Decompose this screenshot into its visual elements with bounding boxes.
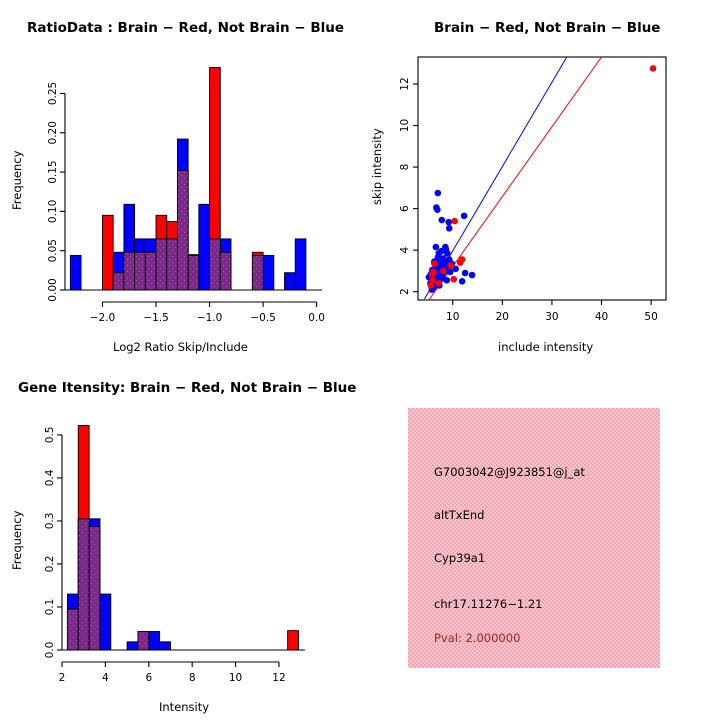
locus-text: chr17.11276−1.21 <box>434 597 542 611</box>
ratio-histogram-ylabel: Frequency <box>10 151 24 210</box>
y-tick-label: 0.10 <box>47 200 59 223</box>
histogram-bar-not-brain <box>149 632 160 651</box>
histogram-bar-overlap-texture <box>177 171 188 291</box>
point-not-brain <box>459 278 466 285</box>
point-not-brain <box>469 272 476 279</box>
x-tick-label: −1.0 <box>197 312 223 324</box>
histogram-bar-overlap-texture <box>252 255 263 290</box>
y-tick-label: 0.15 <box>47 160 59 183</box>
y-tick-label: 0.4 <box>44 469 56 486</box>
y-tick-label: 0.2 <box>44 556 56 573</box>
x-tick-label: −1.5 <box>143 312 169 324</box>
point-brain <box>436 280 443 287</box>
ratio_hist-group: 0.000.050.100.150.200.25−2.0−1.5−1.0−0.5… <box>47 68 325 325</box>
histogram-bar-overlap-texture <box>67 609 78 650</box>
histogram-bar-overlap-texture <box>89 527 100 650</box>
point-not-brain <box>435 190 442 197</box>
figure-canvas: RatioData : Brain − Red, Not Brain − Blu… <box>0 0 720 720</box>
point-brain <box>428 282 435 289</box>
point-brain <box>429 271 436 278</box>
pval-text: Pval: 2.000000 <box>434 631 520 645</box>
histogram-bar-not-brain <box>295 239 306 290</box>
x-tick-label: 50 <box>644 311 657 323</box>
gene-symbol-text: Cyp39a1 <box>434 551 485 565</box>
y-tick-label: 0.25 <box>47 82 59 105</box>
point-not-brain <box>462 270 469 277</box>
point-brain <box>447 262 454 269</box>
point-not-brain <box>433 244 440 251</box>
ratio-histogram-plot: 0.000.050.100.150.200.25−2.0−1.5−1.0−0.5… <box>0 0 360 360</box>
histogram-bar-overlap-texture <box>145 252 156 290</box>
histogram-bar-not-brain <box>70 255 81 290</box>
y-tick-label: 0.0 <box>44 642 56 659</box>
y-tick-label: 4 <box>399 246 411 253</box>
y-tick-label: 10 <box>399 119 411 132</box>
x-tick-label: −0.5 <box>250 312 276 324</box>
annotation-info-box: G7003042@J923851@j_at altTxEnd Cyp39a1 c… <box>408 408 660 668</box>
histogram-bar-not-brain <box>263 255 274 290</box>
point-brain <box>451 218 458 225</box>
point-not-brain <box>447 269 454 276</box>
panel-ratio-histogram: RatioData : Brain − Red, Not Brain − Blu… <box>0 0 360 360</box>
y-tick-label: 8 <box>399 164 411 171</box>
gene-histogram-plot: 0.00.10.20.30.40.524681012 <box>0 360 360 720</box>
x-tick-label: 6 <box>145 672 152 684</box>
x-tick-label: 8 <box>189 672 196 684</box>
y-tick-label: 0.5 <box>44 427 56 444</box>
point-brain <box>440 268 447 275</box>
point-not-brain <box>444 250 451 257</box>
histogram-bar-overlap-texture <box>138 632 149 651</box>
panel-annotation-info: G7003042@J923851@j_at altTxEnd Cyp39a1 c… <box>360 360 720 720</box>
histogram-bar-brain <box>288 631 299 650</box>
y-tick-label: 0.20 <box>47 121 59 144</box>
y-tick-label: 12 <box>399 77 411 90</box>
histogram-bar-brain <box>102 215 113 290</box>
x-tick-label: 30 <box>545 311 558 323</box>
histogram-bar-overlap-texture <box>78 519 89 650</box>
y-tick-label: 0.05 <box>47 239 59 262</box>
histogram-bar-overlap-texture <box>156 239 167 290</box>
histogram-bar-not-brain <box>199 204 210 290</box>
histogram-bar-overlap-texture <box>135 252 146 290</box>
histogram-bar-overlap-texture <box>124 252 135 290</box>
point-not-brain <box>461 213 468 220</box>
histogram-bar-overlap-texture <box>113 273 124 290</box>
scatter-group: 246810121020304050 <box>399 57 666 323</box>
histogram-bar-not-brain <box>160 642 171 650</box>
y-tick-label: 6 <box>399 205 411 212</box>
y-tick-label: 0.00 <box>47 278 59 301</box>
panel-gene-intensity-histogram: Gene Itensity: Brain − Red, Not Brain − … <box>0 360 360 720</box>
histogram-bar-overlap-texture <box>210 239 221 290</box>
x-tick-label: 2 <box>59 672 66 684</box>
x-tick-label: 40 <box>595 311 608 323</box>
gene-histogram-ylabel: Frequency <box>10 511 24 570</box>
scatter-xlabel: include intensity <box>498 340 593 354</box>
y-tick-label: 0.3 <box>44 513 56 530</box>
point-brain <box>431 260 438 267</box>
histogram-bar-overlap-texture <box>220 252 231 290</box>
x-tick-label: 0.0 <box>308 312 325 324</box>
point-not-brain <box>439 217 446 224</box>
x-tick-label: 12 <box>272 672 285 684</box>
point-not-brain <box>434 206 441 213</box>
point-not-brain <box>446 225 453 232</box>
point-brain <box>650 65 657 72</box>
gene-histogram-xlabel: Intensity <box>159 700 209 714</box>
gene-histogram-title: Gene Itensity: Brain − Red, Not Brain − … <box>18 380 356 396</box>
gene_hist-group: 0.00.10.20.30.40.524681012 <box>44 425 305 684</box>
x-tick-label: 4 <box>102 672 109 684</box>
histogram-bar-overlap-texture <box>188 255 199 290</box>
point-not-brain <box>445 219 452 226</box>
x-tick-label: 20 <box>496 311 509 323</box>
histogram-bar-not-brain <box>285 273 296 290</box>
point-brain <box>457 259 464 266</box>
y-tick-label: 2 <box>399 288 411 295</box>
ratio-histogram-title: RatioData : Brain − Red, Not Brain − Blu… <box>27 20 344 36</box>
scatter-ylabel: skip intensity <box>370 128 384 205</box>
histogram-bar-not-brain <box>127 642 138 650</box>
point-brain <box>450 276 457 283</box>
probe-id-text: G7003042@J923851@j_at <box>434 465 585 479</box>
scatter-title: Brain − Red, Not Brain − Blue <box>434 20 660 36</box>
panel-intensity-scatter: Brain − Red, Not Brain − Blue skip inten… <box>360 0 720 360</box>
x-tick-label: 10 <box>446 311 459 323</box>
event-type-text: altTxEnd <box>434 508 484 522</box>
ratio-histogram-xlabel: Log2 Ratio Skip/Include <box>113 340 248 354</box>
x-tick-label: −2.0 <box>90 312 116 324</box>
histogram-bar-not-brain <box>100 594 111 650</box>
scatter-plot: 246810121020304050 <box>360 0 720 360</box>
histogram-bar-overlap-texture <box>167 239 178 290</box>
point-not-brain <box>443 277 450 284</box>
scatter-points <box>426 65 657 293</box>
x-tick-label: 10 <box>229 672 242 684</box>
y-tick-label: 0.1 <box>44 599 56 616</box>
